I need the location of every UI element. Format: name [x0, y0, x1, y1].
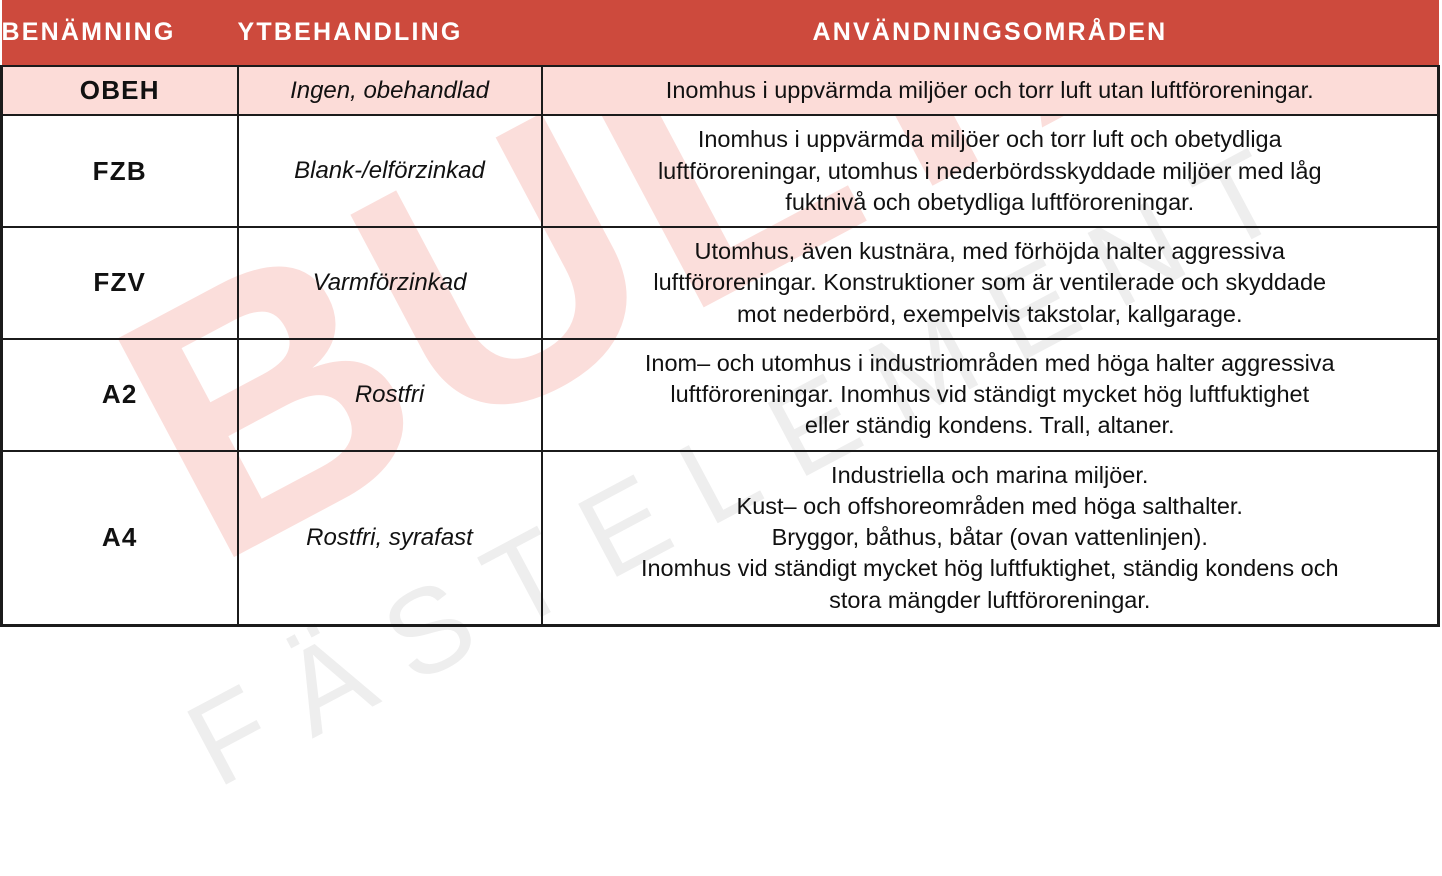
- description-line: Industriella och marina miljöer.: [559, 460, 1422, 491]
- description-line: eller ständig kondens. Trall, altaner.: [559, 410, 1422, 441]
- cell-benamning: FZB: [2, 115, 238, 227]
- cell-anvandningsomraden: Inomhus i uppvärmda miljöer och torr luf…: [542, 115, 1439, 227]
- cell-anvandningsomraden: Inomhus i uppvärmda miljöer och torr luf…: [542, 66, 1439, 115]
- description-line: mot nederbörd, exempelvis takstolar, kal…: [559, 299, 1422, 330]
- description-line: luftföroreningar. Inomhus vid ständigt m…: [559, 379, 1422, 410]
- table-row: FZBBlank-/elförzinkadInomhus i uppvärmda…: [2, 115, 1439, 227]
- description-line: Inom– och utomhus i industriområden med …: [559, 348, 1422, 379]
- cell-ytbehandling: Rostfri, syrafast: [238, 451, 542, 626]
- table-row: FZVVarmförzinkadUtomhus, även kustnära, …: [2, 227, 1439, 339]
- description-line: Kust– och offshoreområden med höga salth…: [559, 491, 1422, 522]
- description-line: Inomhus i uppvärmda miljöer och torr luf…: [559, 124, 1422, 155]
- cell-anvandningsomraden: Industriella och marina miljöer.Kust– oc…: [542, 451, 1439, 626]
- page-root: BULTAB FÄSTELEMENT BENÄMNING YTBEHANDLIN…: [0, 0, 1442, 876]
- description-line: Inomhus vid ständigt mycket hög luftfukt…: [559, 553, 1422, 584]
- column-header-benamning: BENÄMNING: [2, 0, 238, 66]
- table-row: A4Rostfri, syrafastIndustriella och mari…: [2, 451, 1439, 626]
- description-line: stora mängder luftföroreningar.: [559, 585, 1422, 616]
- description-line: Bryggor, båthus, båtar (ovan vattenlinje…: [559, 522, 1422, 553]
- description-line: fuktnivå och obetydliga luftföroreningar…: [559, 187, 1422, 218]
- cell-benamning: A2: [2, 339, 238, 451]
- cell-ytbehandling: Varmförzinkad: [238, 227, 542, 339]
- cell-ytbehandling: Ingen, obehandlad: [238, 66, 542, 115]
- description-line: Utomhus, även kustnära, med förhöjda hal…: [559, 236, 1422, 267]
- description-line: luftföroreningar. Konstruktioner som är …: [559, 267, 1422, 298]
- cell-ytbehandling: Blank-/elförzinkad: [238, 115, 542, 227]
- column-header-ytbehandling: YTBEHANDLING: [238, 0, 542, 66]
- table-body: OBEHIngen, obehandladInomhus i uppvärmda…: [2, 66, 1439, 625]
- description-line: luftföroreningar, utomhus i nederbördssk…: [559, 156, 1422, 187]
- cell-anvandningsomraden: Inom– och utomhus i industriområden med …: [542, 339, 1439, 451]
- cell-benamning: OBEH: [2, 66, 238, 115]
- cell-anvandningsomraden: Utomhus, även kustnära, med förhöjda hal…: [542, 227, 1439, 339]
- cell-ytbehandling: Rostfri: [238, 339, 542, 451]
- column-header-anvandningsomraden: ANVÄNDNINGSOMRÅDEN: [542, 0, 1439, 66]
- table-header: BENÄMNING YTBEHANDLING ANVÄNDNINGSOMRÅDE…: [2, 0, 1439, 66]
- table-container: BENÄMNING YTBEHANDLING ANVÄNDNINGSOMRÅDE…: [0, 0, 1442, 876]
- table-header-row: BENÄMNING YTBEHANDLING ANVÄNDNINGSOMRÅDE…: [2, 0, 1439, 66]
- cell-benamning: FZV: [2, 227, 238, 339]
- surface-treatment-table: BENÄMNING YTBEHANDLING ANVÄNDNINGSOMRÅDE…: [0, 0, 1440, 627]
- table-row: A2RostfriInom– och utomhus i industriomr…: [2, 339, 1439, 451]
- description-line: Inomhus i uppvärmda miljöer och torr luf…: [559, 75, 1422, 106]
- cell-benamning: A4: [2, 451, 238, 626]
- table-row: OBEHIngen, obehandladInomhus i uppvärmda…: [2, 66, 1439, 115]
